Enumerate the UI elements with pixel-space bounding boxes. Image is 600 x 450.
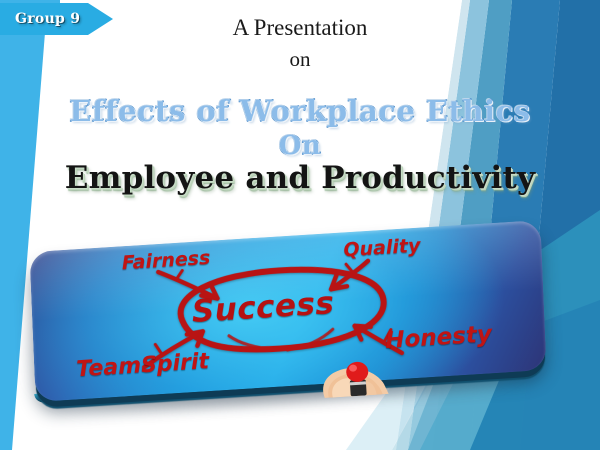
presentation-slide: Group 9 A Presentation on Effects of Wor…	[0, 0, 600, 450]
arrow-fairness-tick	[176, 271, 182, 279]
hand-with-marker	[307, 337, 402, 399]
page-title-line-2: On	[0, 131, 600, 161]
group-badge-label: Group 9	[15, 11, 80, 27]
intro-line-2: on	[0, 48, 600, 70]
page-title-line-1: Effects of Workplace Ethics	[0, 94, 600, 128]
ethics-diagram-image: Success Fairness Quality TeamSpirit Hone…	[14, 228, 549, 413]
success-diagram: Success Fairness Quality TeamSpirit Hone…	[29, 220, 546, 402]
page-title-line-3: Employee and Productivity	[0, 160, 600, 196]
tablet-board: Success Fairness Quality TeamSpirit Hone…	[29, 220, 546, 402]
